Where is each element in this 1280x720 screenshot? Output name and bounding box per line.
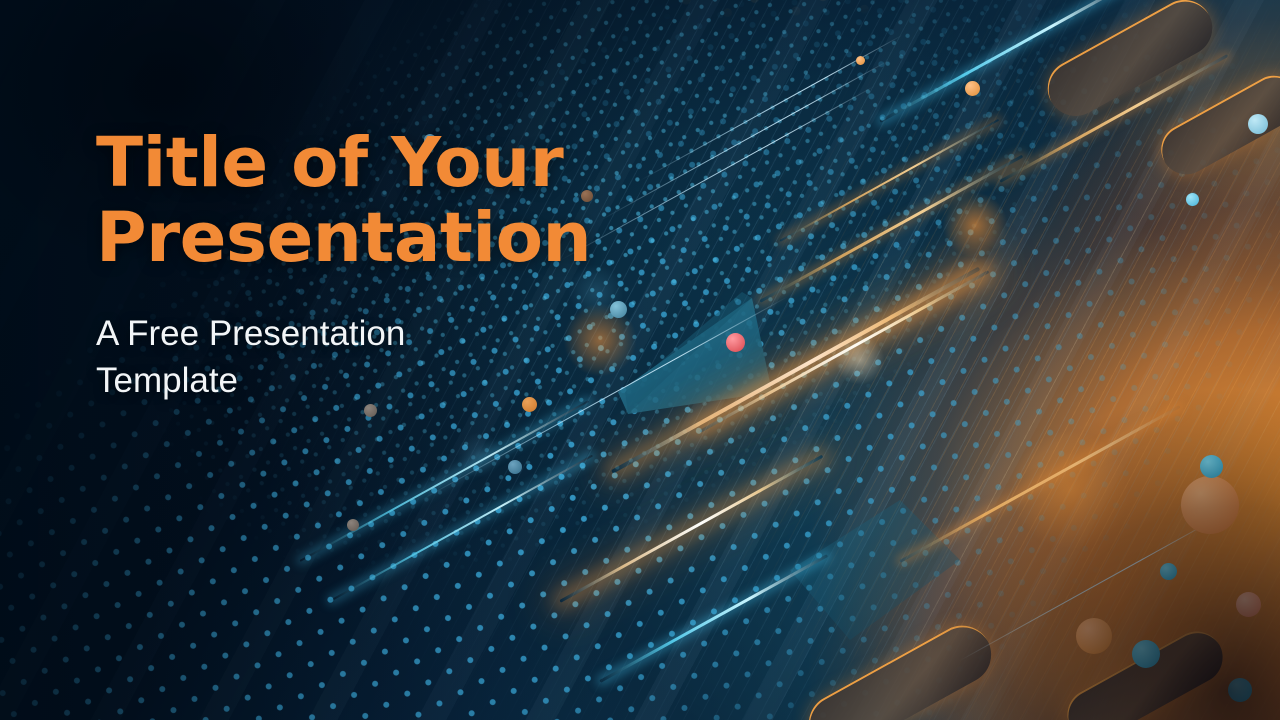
- sphere-cyan-c: [1248, 114, 1268, 134]
- page-title[interactable]: Title of Your Presentation: [96, 126, 656, 275]
- flare-orange-low-orb: [1010, 430, 1130, 550]
- flare-orange-right-orb: [942, 192, 1008, 258]
- sphere-cyan-b: [1200, 455, 1223, 478]
- sphere-orange-big: [1181, 476, 1239, 534]
- sphere-cyan-f: [1186, 193, 1199, 206]
- sphere-grey-low: [347, 519, 359, 531]
- hot-core-center-streak: [611, 267, 980, 474]
- cyan-bottom-streak: [599, 554, 828, 683]
- sphere-orange-mid: [1076, 618, 1112, 654]
- capsule-bottom-mid: [798, 615, 1001, 720]
- sphere-orange-small: [856, 56, 865, 65]
- sphere-cyan-d: [1160, 563, 1177, 580]
- sphere-blue-low: [508, 460, 522, 474]
- page-subtitle[interactable]: A Free Presentation Template: [96, 311, 476, 404]
- sphere-salmon: [1236, 592, 1261, 617]
- flare-teal-left-orb: [457, 432, 503, 478]
- sphere-orange-top: [965, 81, 980, 96]
- title-text-block: Title of Your Presentation A Free Presen…: [96, 126, 656, 404]
- sphere-cyan-a: [1132, 640, 1160, 668]
- sphere-cyan-e: [1228, 678, 1252, 702]
- sphere-grey-left: [364, 404, 377, 417]
- sphere-red-center: [726, 333, 745, 352]
- presentation-slide: Title of Your Presentation A Free Presen…: [0, 0, 1280, 720]
- flare-white-center-orb: [835, 335, 885, 385]
